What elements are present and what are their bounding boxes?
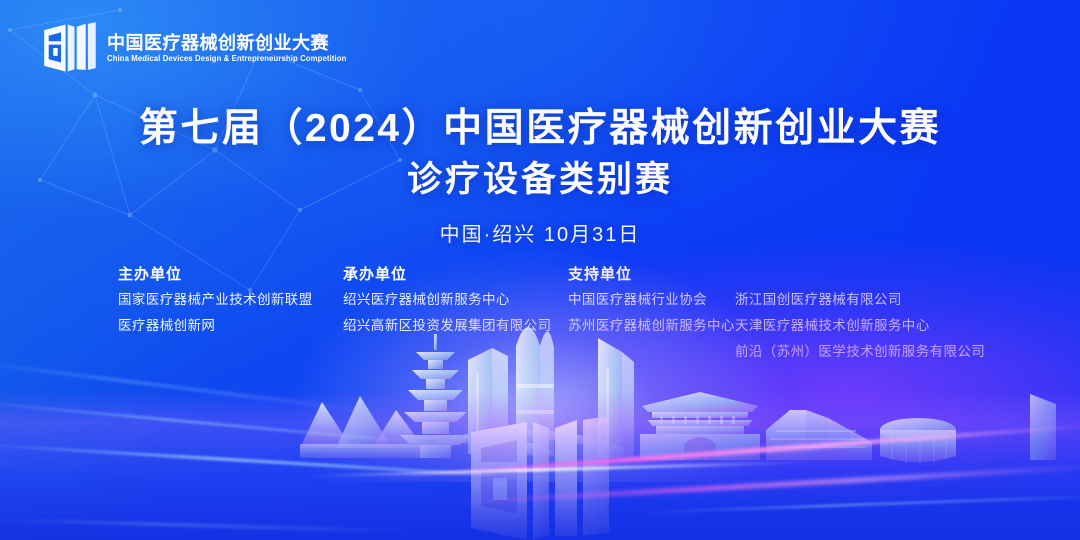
event-banner: 中国医疗器械创新创业大赛 China Medical Devices Desig… — [0, 0, 1080, 540]
open-book-door-logo-icon — [42, 22, 98, 74]
page-title: 第七届（2024）中国医疗器械创新创业大赛 诊疗设备类别赛 — [0, 104, 1080, 203]
logo-english-name: China Medical Devices Design & Entrepren… — [107, 53, 346, 65]
logo-chinese-name: 中国医疗器械创新创业大赛 — [107, 33, 354, 54]
city-skyline-scene — [0, 310, 1080, 540]
brand-logo: 中国医疗器械创新创业大赛 China Medical Devices Desig… — [42, 22, 354, 74]
title-line-2: 诊疗设备类别赛 — [0, 156, 1080, 203]
title-line-1: 第七届（2024）中国医疗器械创新创业大赛 — [0, 104, 1080, 154]
